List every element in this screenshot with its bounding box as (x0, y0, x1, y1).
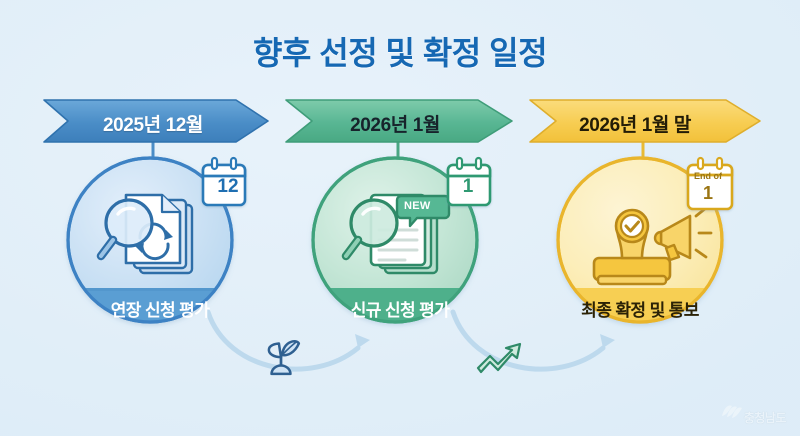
watermark-text: 충청남도 (744, 409, 786, 426)
arrow-banner-label-2: 2026년 1월 (300, 110, 490, 137)
calendar-badge-label-1: 12 (206, 176, 250, 198)
step-circle-label-3: 최종 확정 및 통보 (540, 296, 740, 321)
arrow-banner-label-1: 2025년 12월 (58, 110, 248, 137)
step-circle-label-2: 신규 신청 평가 (300, 296, 500, 321)
infographic-canvas: 향후 선정 및 확정 일정 2025년 12월 2026년 1월 2026년 1… (0, 0, 800, 436)
document-new-badge: NEW (404, 200, 431, 212)
watermark: 충청남도 (744, 409, 786, 426)
calendar-badge-prefix-3: End of (686, 171, 730, 181)
calendar-badge-label-2: 1 (446, 176, 490, 198)
step-circle-label-1: 연장 신청 평가 (60, 296, 260, 321)
arrow-banner-label-3: 2026년 1월 말 (540, 110, 730, 137)
calendar-badge-label-3: 1 (686, 183, 730, 204)
page-title: 향후 선정 및 확정 일정 (0, 28, 800, 74)
